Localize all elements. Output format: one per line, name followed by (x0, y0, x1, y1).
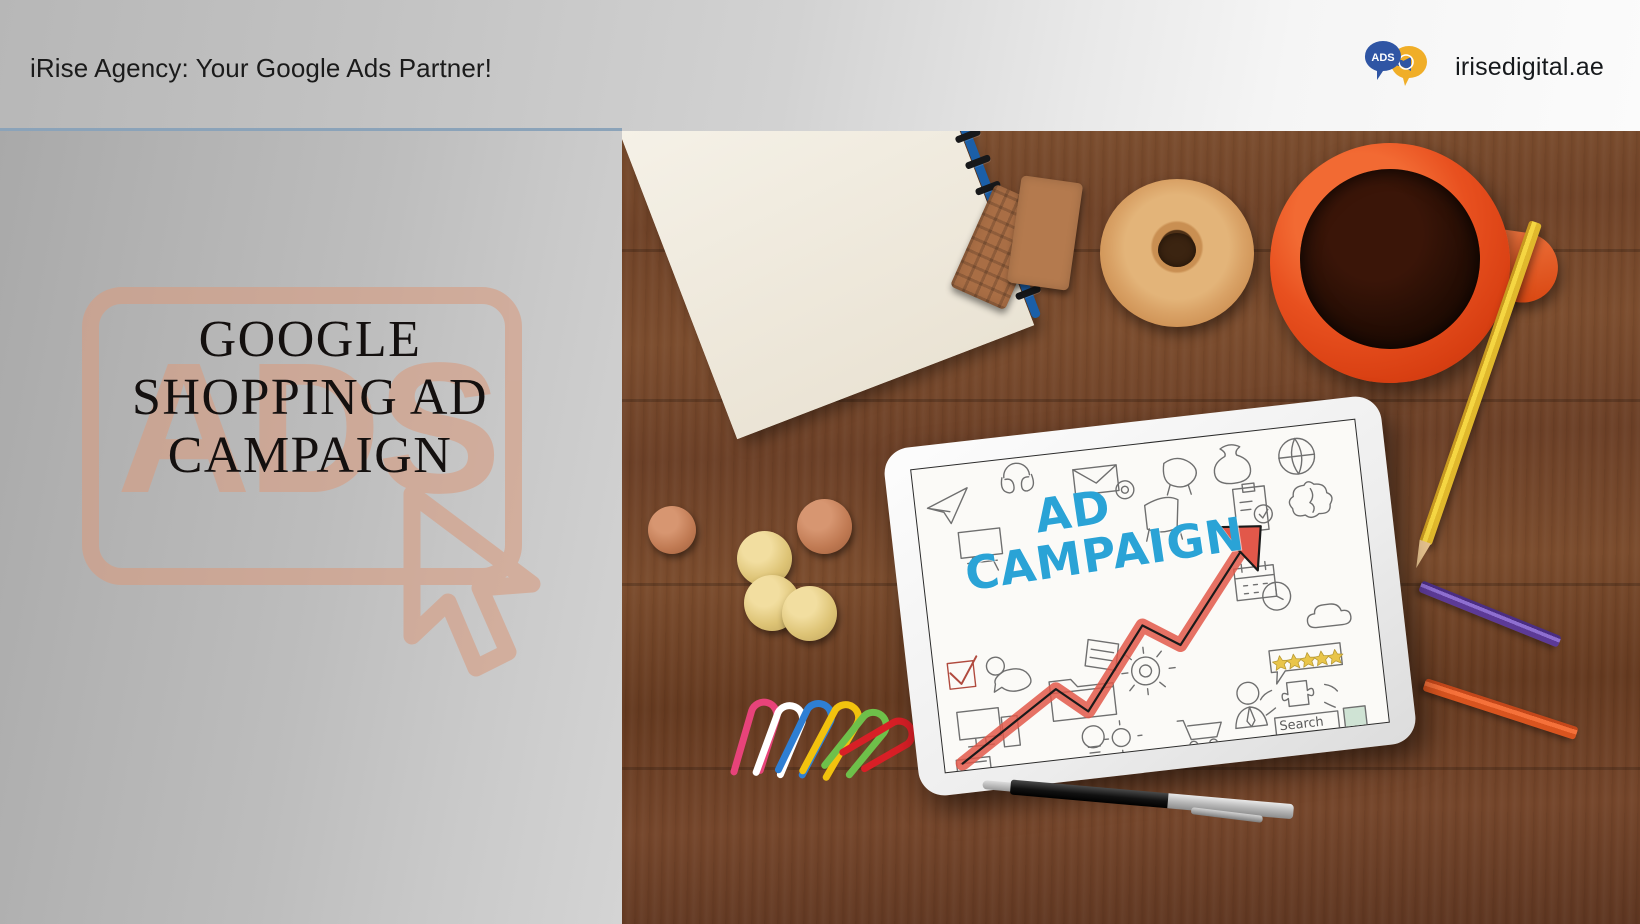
title-line-2: SHOPPING AD (50, 369, 570, 427)
headphones-icon (999, 462, 1034, 494)
biscuit-cookie (1007, 175, 1083, 291)
logo-ads-text: ADS (1371, 52, 1394, 64)
clock-icon (1261, 581, 1292, 612)
shopping-cart-icon (1177, 716, 1224, 750)
globe-icon (1277, 436, 1316, 475)
campaign-title: GOOGLE SHOPPING AD CAMPAIGN (50, 311, 570, 485)
left-title-panel: ADS GOOGLE SHOPPING AD CAMPAIGN (0, 131, 622, 924)
money-bag-icon (1212, 443, 1252, 485)
coffee-mug (1270, 143, 1510, 383)
mouse-cursor-arrow-icon (392, 486, 582, 691)
pen-barrel-black (1010, 780, 1171, 809)
megaphone-icon (1162, 456, 1199, 497)
paper-plane-icon (926, 488, 971, 526)
ads-speech-bubble-logo[interactable]: ADS (1361, 36, 1433, 98)
paper-clips (714, 671, 914, 781)
cloud-icon (1306, 602, 1352, 629)
ad-campaign-doodle-screen[interactable]: Search AD CAMPAIGN (910, 419, 1390, 774)
coffee-surface (1300, 169, 1480, 349)
star-rating-icon (1269, 643, 1345, 685)
brand-domain[interactable]: irisedigital.ae (1455, 53, 1604, 82)
page-header: iRise Agency: Your Google Ads Partner! A… (0, 0, 1640, 131)
pencil-purple (1418, 580, 1562, 647)
page-title: iRise Agency: Your Google Ads Partner! (30, 53, 492, 84)
desk-flatlay-photo: Search AD CAMPAIGN (622, 131, 1640, 924)
puzzle-handshake-icon (1259, 677, 1339, 715)
ring-cookie (1100, 179, 1254, 327)
logo-svg: ADS (1361, 36, 1433, 98)
header-divider (0, 128, 622, 131)
pen-tip (982, 780, 1013, 792)
euro-coin (648, 506, 696, 554)
euro-coin (782, 586, 837, 641)
tablet[interactable]: Search AD CAMPAIGN (882, 394, 1418, 798)
mug-body (1270, 143, 1510, 383)
title-line-3: CAMPAIGN (50, 427, 570, 485)
businessman-icon (1231, 681, 1268, 729)
euro-coin (797, 499, 852, 554)
gear-small-icon (1103, 718, 1144, 756)
speech-bubbles-icon (986, 653, 1032, 694)
pencil-orange (1422, 678, 1578, 740)
ballpoint-pen (982, 777, 1302, 820)
brand-block[interactable]: ADS irisedigital.ae (1361, 36, 1604, 98)
checkbox-icon (947, 656, 980, 689)
title-line-1: GOOGLE (50, 311, 570, 369)
lightbulb-icon (1081, 725, 1106, 754)
brain-icon (1287, 479, 1334, 519)
